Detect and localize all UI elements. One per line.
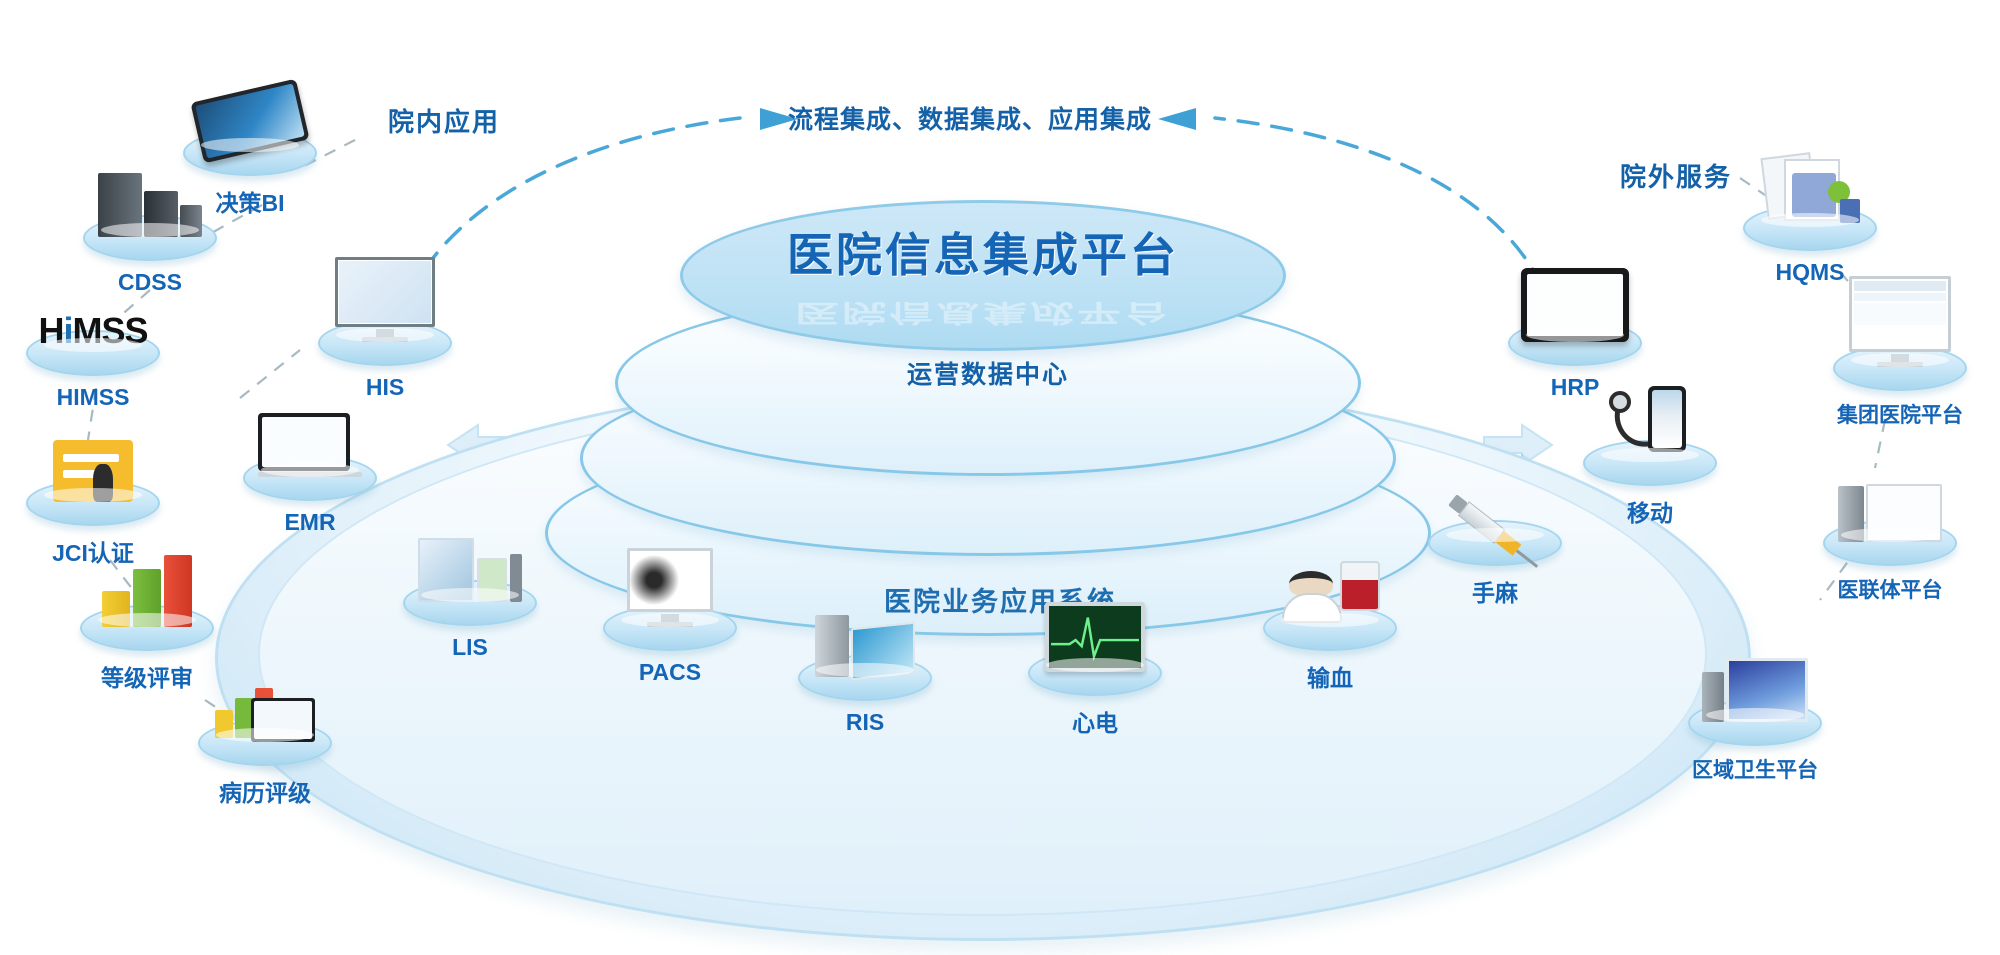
node-mobile[interactable]: 移动 <box>1565 440 1735 528</box>
node-group-hospital[interactable]: 集团医院平台 <box>1805 345 1995 429</box>
node-pedestal <box>1743 205 1877 251</box>
node-lis[interactable]: LIS <box>385 580 555 661</box>
blood-bag-nurse-icon <box>1278 557 1382 627</box>
page-title-reflection: 医院信息集成平台 <box>683 297 1283 332</box>
node-pedestal <box>1263 605 1397 651</box>
page-title: 医院信息集成平台 <box>683 219 1283 285</box>
section-title-external: 院外服务 <box>1620 157 1732 194</box>
node-label: HIMSS <box>8 384 178 411</box>
node-label: 移动 <box>1565 494 1735 528</box>
node-pedestal <box>26 480 160 526</box>
node-grade-review[interactable]: 等级评审 <box>62 605 232 693</box>
node-pedestal <box>1428 520 1562 566</box>
node-pedestal <box>1583 440 1717 486</box>
node-label: 病历评级 <box>180 774 350 808</box>
node-emr[interactable]: EMR <box>225 455 395 536</box>
node-ris[interactable]: RIS <box>780 655 950 736</box>
node-pedestal <box>83 215 217 261</box>
tablet-report-icon <box>1521 268 1629 342</box>
himss-logo-icon: HiMSS <box>38 310 147 352</box>
node-cdss[interactable]: CDSS <box>65 215 235 296</box>
node-anesthesia[interactable]: 手麻 <box>1410 520 1580 608</box>
node-label: 集团医院平台 <box>1805 399 1995 429</box>
certificate-seal-icon <box>53 440 133 502</box>
syringe-icon <box>1441 524 1549 542</box>
node-transfusion[interactable]: 输血 <box>1245 605 1415 693</box>
laptop-document-icon <box>258 413 362 477</box>
node-label: 手麻 <box>1410 574 1580 608</box>
tier-platform-cap: 医院信息集成平台 医院信息集成平台 <box>680 200 1286 351</box>
server-rack-icon <box>98 173 202 237</box>
node-label: 输血 <box>1245 659 1415 693</box>
node-pedestal <box>1508 320 1642 366</box>
node-pedestal <box>403 580 537 626</box>
bar-chart-3d-icon <box>102 555 192 627</box>
node-himss[interactable]: HiMSS HIMSS <box>8 330 178 411</box>
node-label: PACS <box>585 659 755 686</box>
ecg-monitor-icon <box>1045 602 1145 672</box>
folder-files-icon <box>1758 155 1862 227</box>
node-pedestal <box>1833 345 1967 391</box>
node-label: 医联体平台 <box>1795 574 1985 604</box>
node-label: HRP <box>1490 374 1660 401</box>
node-pedestal <box>183 130 317 176</box>
section-title-internal: 院内应用 <box>388 102 500 139</box>
integration-banner-label: 流程集成、数据集成、应用集成 <box>760 100 1180 136</box>
xray-monitor-icon <box>627 548 713 627</box>
node-pedestal <box>198 720 332 766</box>
node-regional[interactable]: 区域卫生平台 <box>1655 700 1855 784</box>
laptop-chart-icon <box>215 678 315 742</box>
node-label: RIS <box>780 709 950 736</box>
pc-tower-monitor-icon <box>815 615 915 677</box>
lab-analyzer-icon <box>418 538 522 602</box>
node-hrp[interactable]: HRP <box>1490 320 1660 401</box>
node-hqms[interactable]: HQMS <box>1725 205 1895 286</box>
node-label: 等级评审 <box>62 659 232 693</box>
node-pedestal: HiMSS <box>26 330 160 376</box>
desktop-tower-icon <box>1838 484 1942 542</box>
desktop-monitor-icon <box>335 257 435 342</box>
node-record-rating[interactable]: 病历评级 <box>180 720 350 808</box>
node-pedestal <box>80 605 214 651</box>
node-label: LIS <box>385 634 555 661</box>
node-his[interactable]: HIS <box>300 320 470 401</box>
tablet-dashboard-icon <box>196 90 304 152</box>
tier-operation-label: 运营数据中心 <box>618 355 1358 391</box>
node-pedestal <box>243 455 377 501</box>
node-pedestal <box>1028 650 1162 696</box>
node-pedestal <box>603 605 737 651</box>
node-pedestal <box>1688 700 1822 746</box>
node-label: 心电 <box>1010 704 1180 738</box>
node-label: 区域卫生平台 <box>1655 754 1855 784</box>
node-ecg[interactable]: 心电 <box>1010 650 1180 738</box>
node-pedestal <box>798 655 932 701</box>
node-label: EMR <box>225 509 395 536</box>
node-label: HIS <box>300 374 470 401</box>
crt-monitor-icon <box>1849 276 1951 367</box>
node-medical-union[interactable]: 医联体平台 <box>1795 520 1985 604</box>
node-pedestal <box>1823 520 1957 566</box>
blue-monitor-icon <box>1702 658 1808 722</box>
node-pacs[interactable]: PACS <box>585 605 755 686</box>
node-label: CDSS <box>65 269 235 296</box>
node-pedestal <box>318 320 452 366</box>
diagram-canvas: 基础数据中心 临床数据中心 运营数据中心 医院信息集成平台 医院信息集成平台 流… <box>0 0 2000 955</box>
